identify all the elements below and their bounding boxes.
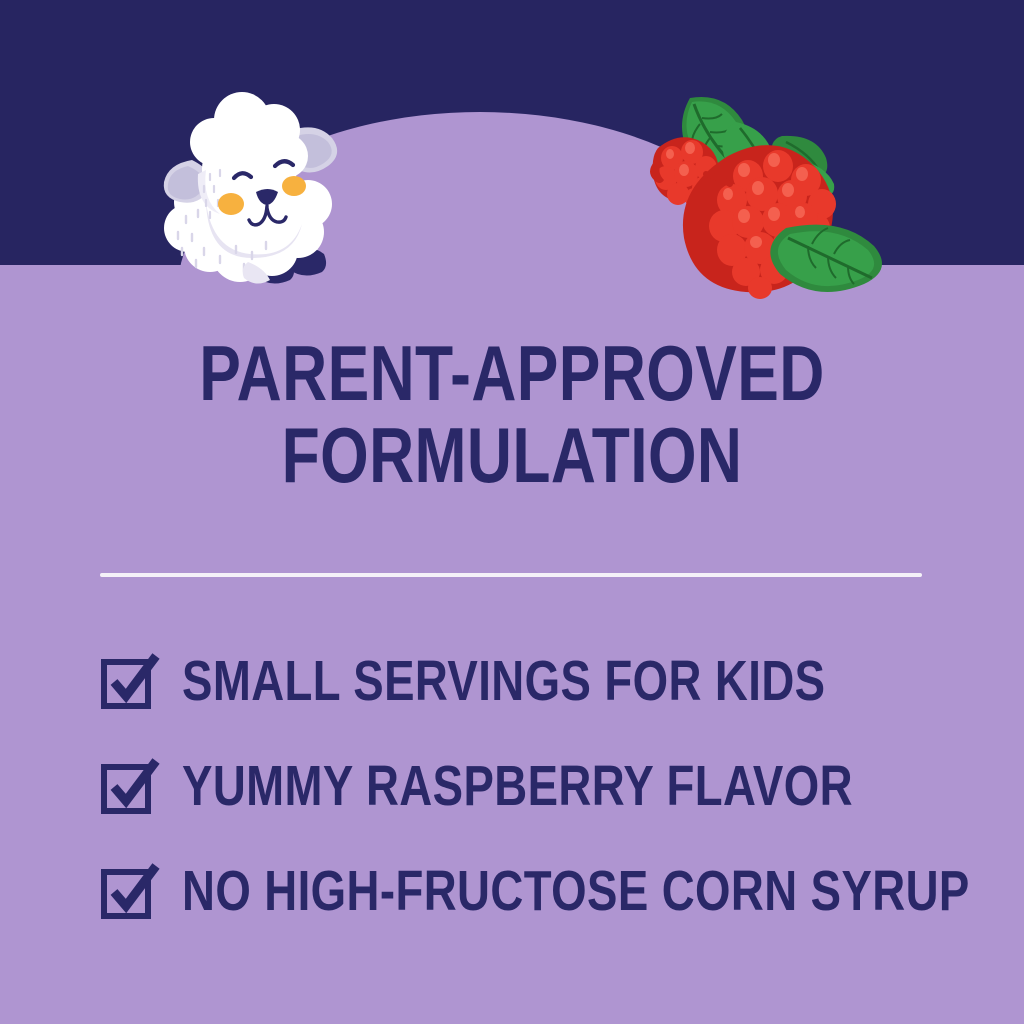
raspberry-illustration-icon	[636, 88, 886, 308]
promotional-poster: PARENT-APPROVED FORMULATION SMALL SERVIN…	[0, 0, 1024, 1024]
feature-checklist: SMALL SERVINGS FOR KIDS YUMMY RASPBERRY …	[100, 628, 980, 943]
list-item-label: SMALL SERVINGS FOR KIDS	[182, 651, 825, 711]
list-item-label: YUMMY RASPBERRY FLAVOR	[182, 756, 853, 816]
horizontal-divider	[100, 573, 922, 577]
page-title: PARENT-APPROVED FORMULATION	[102, 332, 921, 496]
page-title-line-2: FORMULATION	[102, 414, 921, 496]
page-title-line-1: PARENT-APPROVED	[102, 332, 921, 414]
checked-checkbox-icon	[100, 650, 162, 712]
checked-checkbox-icon	[100, 860, 162, 922]
sheep-mascot-icon	[148, 82, 358, 287]
checked-checkbox-icon	[100, 755, 162, 817]
list-item: NO HIGH-FRUCTOSE CORN SYRUP	[100, 838, 980, 943]
list-item: YUMMY RASPBERRY FLAVOR	[100, 733, 980, 838]
list-item-label: NO HIGH-FRUCTOSE CORN SYRUP	[182, 861, 970, 921]
list-item: SMALL SERVINGS FOR KIDS	[100, 628, 980, 733]
